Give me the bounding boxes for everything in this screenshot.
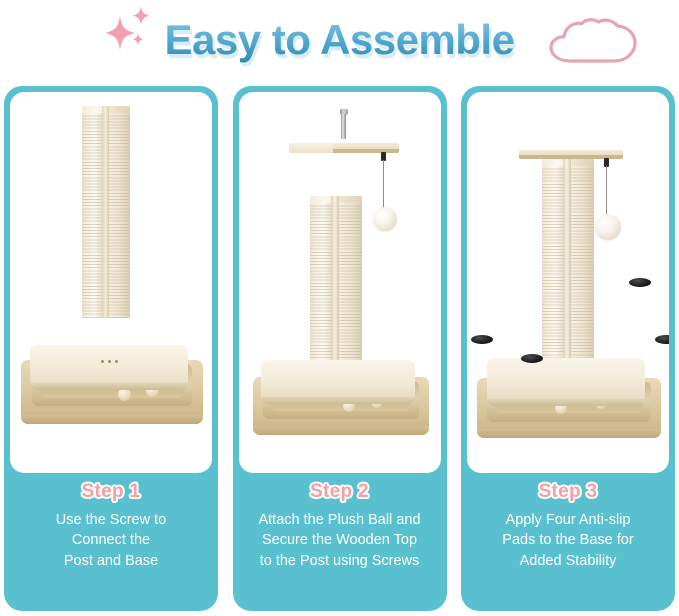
post-center-seam	[331, 196, 339, 364]
wooden-base-upper	[261, 360, 415, 404]
step-label: Step 2	[239, 482, 441, 503]
step-description: Apply Four Anti-slip Pads to the Base fo…	[467, 510, 669, 572]
plush-ball	[373, 207, 397, 231]
step-description: Attach the Plush Ball and Secure the Woo…	[239, 510, 441, 572]
hanging-string	[383, 160, 384, 210]
plush-ball-and-top-illustration	[239, 92, 441, 473]
wooden-base-upper	[30, 345, 188, 390]
step-card-2[interactable]: Step 2 Attach the Plush Ball and Secure …	[233, 86, 447, 611]
step-label: Step 1	[10, 482, 212, 503]
cloud-icon	[548, 16, 638, 68]
post-center-seam	[563, 159, 571, 367]
wooden-base-lower-edge	[477, 429, 661, 438]
anti-slip-pad	[521, 354, 543, 363]
wooden-base-upper	[487, 358, 645, 406]
wooden-base-lower-edge	[21, 415, 203, 424]
step-card-3[interactable]: Step 3 Apply Four Anti-slip Pads to the …	[461, 86, 675, 611]
wooden-base-upper-edge	[261, 397, 415, 404]
base-screw-holes	[101, 360, 119, 364]
step-description: Use the Screw to Connect the Post and Ba…	[10, 510, 212, 572]
page-header: Easy to Assemble Easy to Assemble	[0, 0, 679, 84]
steps-card-row: Step 1 Use the Screw to Connect the Post…	[0, 86, 679, 616]
anti-slip-pad	[471, 335, 493, 344]
sparkle-icon	[96, 2, 168, 62]
step-3-caption: Step 3 Apply Four Anti-slip Pads to the …	[467, 473, 669, 605]
page-title: Easy to Assemble	[165, 19, 515, 65]
screw-shaft	[341, 114, 346, 139]
wooden-base-upper-edge	[30, 383, 188, 390]
step-2-caption: Step 2 Attach the Plush Ball and Secure …	[239, 473, 441, 605]
anti-slip-pad	[655, 335, 669, 344]
wooden-top-plate-shade	[289, 143, 333, 153]
post-center-seam	[102, 106, 109, 318]
wooden-base-lower-edge	[253, 426, 429, 435]
wooden-base-upper-edge	[487, 399, 645, 406]
plush-ball	[595, 214, 621, 240]
step-label: Step 3	[467, 482, 669, 503]
hanging-string	[606, 166, 607, 218]
anti-slip-pad	[629, 278, 651, 287]
assembled-post-with-pads-illustration	[467, 92, 669, 473]
step-1-caption: Step 1 Use the Screw to Connect the Post…	[10, 473, 212, 605]
post-and-base-illustration	[10, 92, 212, 473]
step-card-1[interactable]: Step 1 Use the Screw to Connect the Post…	[4, 86, 218, 611]
